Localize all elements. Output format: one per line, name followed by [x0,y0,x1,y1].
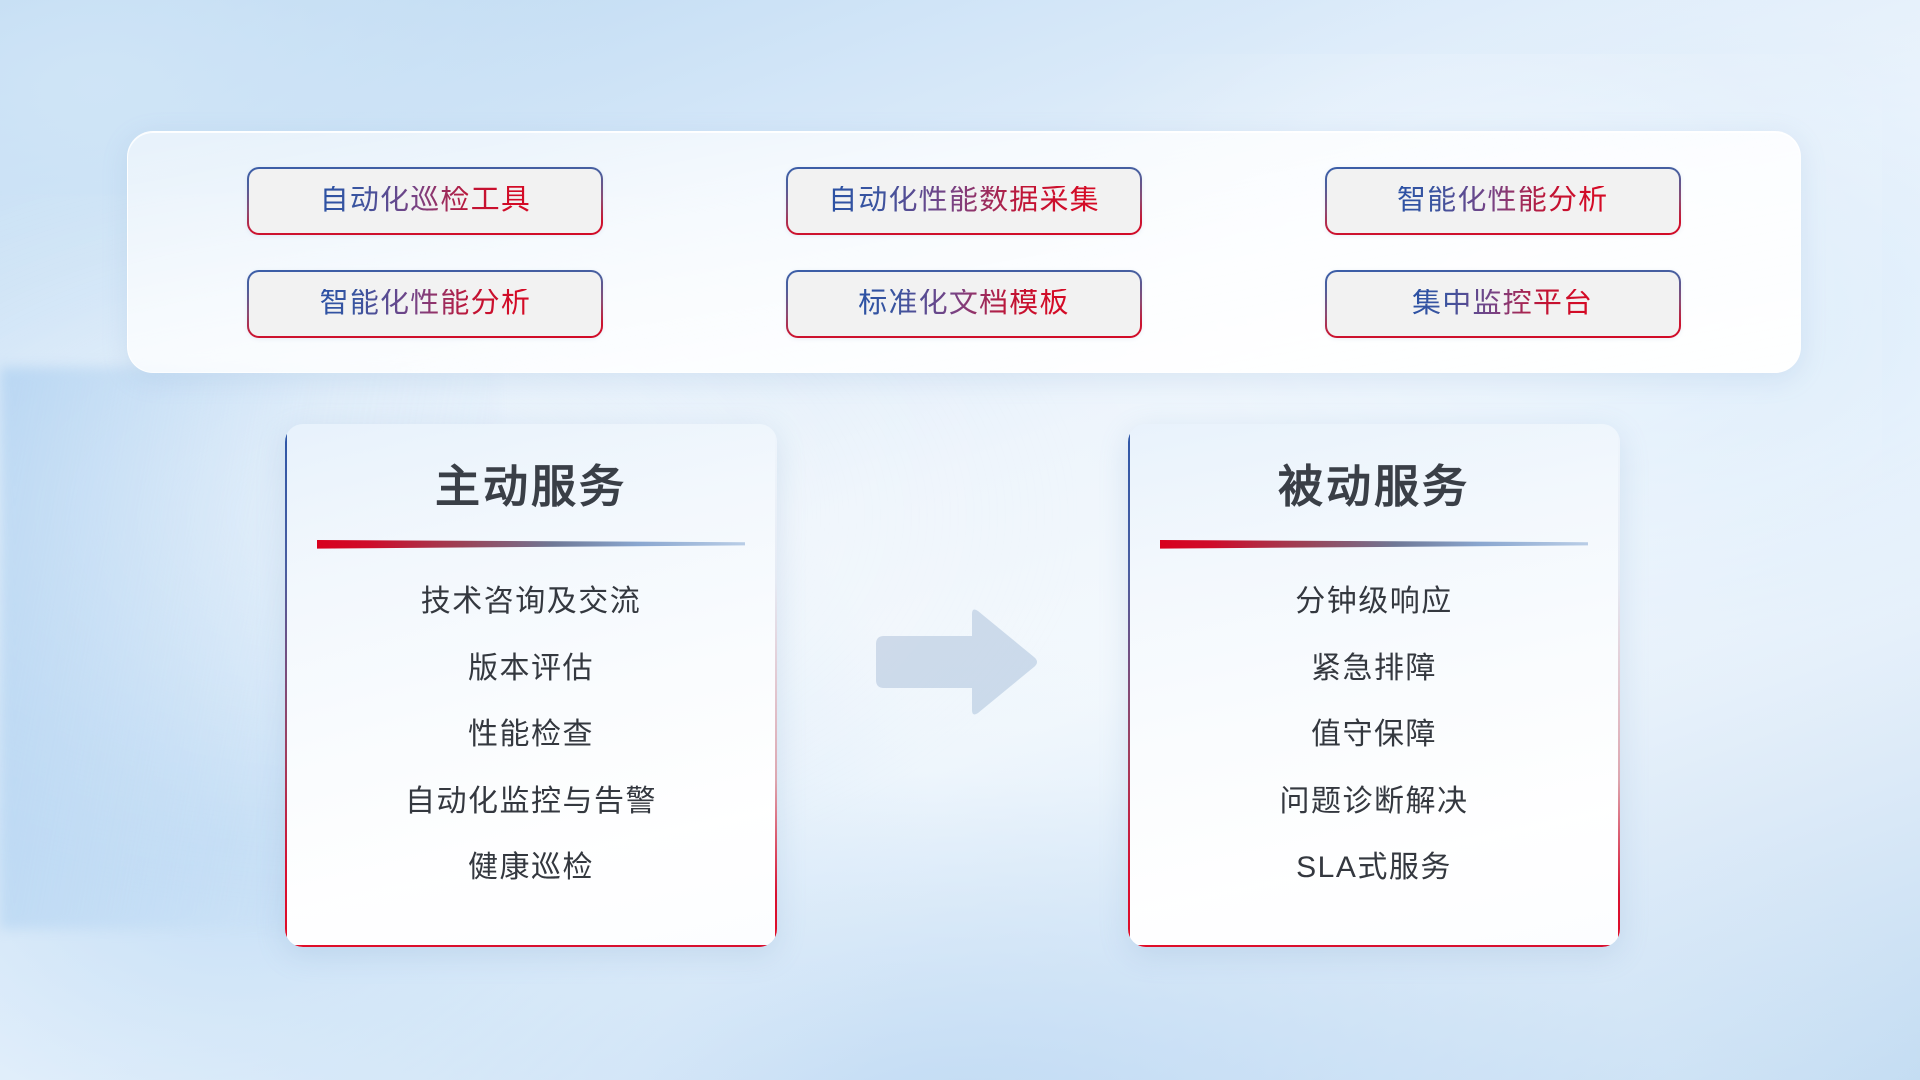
capability-tag-label: 标准化文档模板 [858,289,1069,318]
capability-tag[interactable]: 集中监控平台 [1325,270,1681,338]
list-item: 版本评估 [468,649,594,690]
passive-service-panel: 被动服务 分钟级响应 紧急排障 值守保障 问题诊断解决 SLA式服务 [1128,424,1620,947]
capability-tag-label: 智能化性能分析 [320,289,531,318]
capability-tag-label: 智能化性能分析 [1397,186,1608,215]
capability-tag[interactable]: 自动化性能数据采集 [786,167,1142,235]
capability-tags-panel: 自动化巡检工具 自动化性能数据采集 智能化性能分析 智能化性能分析 标准化文档模… [127,131,1801,373]
passive-service-title: 被动服务 [1128,462,1620,512]
active-service-panel: 主动服务 技术咨询及交流 版本评估 性能检查 自动化监控与告警 健康巡检 [285,424,777,947]
passive-service-list: 分钟级响应 紧急排障 值守保障 问题诊断解决 SLA式服务 [1128,582,1620,889]
list-item: SLA式服务 [1296,848,1452,889]
panel-bottom-accent-bar [1128,945,1620,947]
active-service-list: 技术咨询及交流 版本评估 性能检查 自动化监控与告警 健康巡检 [285,582,777,889]
list-item: 分钟级响应 [1295,582,1453,623]
list-item: 自动化监控与告警 [405,782,657,823]
capability-tag[interactable]: 智能化性能分析 [247,270,603,338]
capability-tag[interactable]: 自动化巡检工具 [247,167,603,235]
list-item: 性能检查 [468,715,594,756]
list-item: 问题诊断解决 [1280,782,1469,823]
capability-tag[interactable]: 标准化文档模板 [786,270,1142,338]
list-item: 紧急排障 [1311,649,1437,690]
capability-tag[interactable]: 智能化性能分析 [1325,167,1681,235]
panel-bottom-accent-bar [285,945,777,947]
title-divider-active [317,538,745,550]
title-divider-passive [1160,538,1588,550]
list-item: 值守保障 [1311,715,1437,756]
list-item: 技术咨询及交流 [421,582,642,623]
right-arrow-icon [870,608,1040,726]
list-item: 健康巡检 [468,848,594,889]
active-service-title: 主动服务 [285,462,777,512]
capability-tag-label: 自动化巡检工具 [320,186,531,215]
capability-tag-label: 自动化性能数据采集 [828,186,1100,215]
capability-tag-label: 集中监控平台 [1412,289,1593,318]
